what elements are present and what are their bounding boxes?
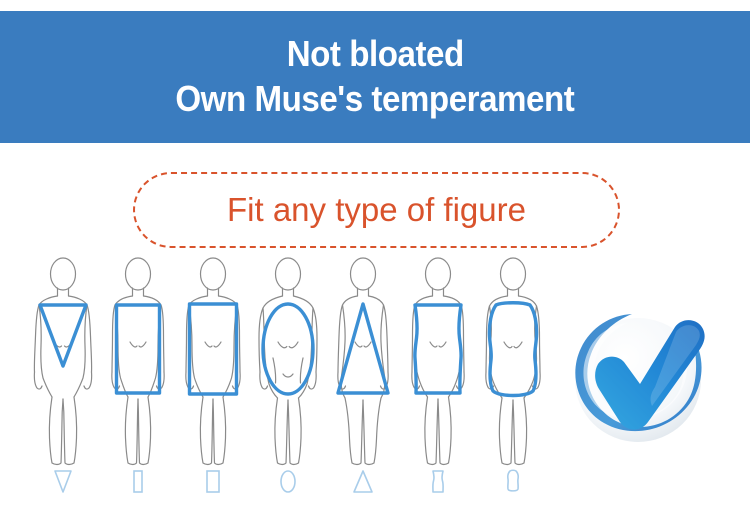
body-shape-figure-inverted-triangle: [28, 252, 98, 502]
body-shape-figure-rectangle-wide: [178, 252, 248, 502]
blue-checkmark-badge-icon: [548, 292, 723, 454]
oval-icon: [271, 467, 305, 497]
header-banner: Not bloated Own Muse's temperament: [0, 11, 750, 143]
rectangle-wide-icon: [196, 467, 230, 497]
callout-box: Fit any type of figure: [133, 172, 620, 248]
body-shape-figure-pear-hourglass: [478, 252, 548, 502]
check-badge: [548, 292, 723, 454]
body-shape-figure-oval: [253, 252, 323, 502]
female-body-outline: [178, 252, 248, 467]
female-body-outline: [478, 252, 548, 467]
female-body-outline: [28, 252, 98, 467]
female-body-outline: [253, 252, 323, 467]
pear-hourglass-icon: [496, 467, 530, 497]
shape-overlay-rectangle-wide: [190, 304, 237, 394]
body-shape-figures-row: [28, 252, 548, 502]
triangle-icon: [346, 467, 380, 497]
body-shape-figure-hourglass: [403, 252, 473, 502]
body-shape-figure-triangle: [328, 252, 398, 502]
shape-overlay-oval: [263, 304, 313, 394]
hourglass-icon: [421, 467, 455, 497]
banner-headline-secondary: Own Muse's temperament: [176, 76, 575, 122]
female-body-outline: [403, 252, 473, 467]
shape-overlay-inverted-triangle: [40, 305, 86, 366]
rectangle-narrow-icon: [121, 467, 155, 497]
female-body-outline: [103, 252, 173, 467]
shape-overlay-rectangle-narrow: [117, 305, 160, 393]
female-body-outline: [328, 252, 398, 467]
body-shape-figure-rectangle-narrow: [103, 252, 173, 502]
shape-overlay-pear-hourglass: [489, 303, 536, 396]
callout-label: Fit any type of figure: [227, 191, 526, 229]
inverted-triangle-icon: [46, 467, 80, 497]
banner-headline-primary: Not bloated: [286, 32, 463, 76]
shape-overlay-triangle: [338, 304, 388, 393]
shape-overlay-hourglass: [415, 305, 461, 393]
